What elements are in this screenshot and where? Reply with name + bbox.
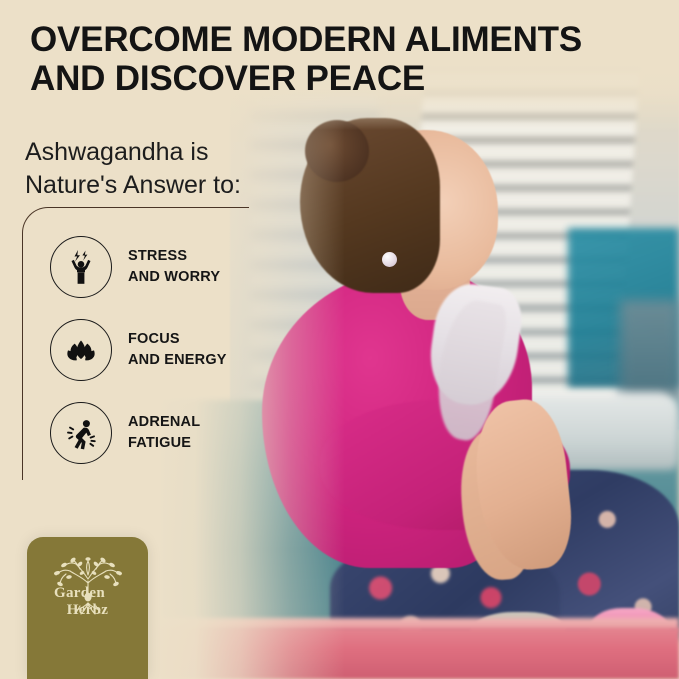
stressed-person-icon xyxy=(50,236,112,298)
logo-word-right: Herbz xyxy=(67,602,108,618)
content-layer: OVERCOME MODERN ALIMENTS AND DISCOVER PE… xyxy=(0,0,679,679)
list-item: ADRENAL FATIGUE xyxy=(50,402,290,464)
subheading: Ashwagandha is Nature's Answer to: xyxy=(25,136,275,201)
lotus-flower-icon xyxy=(50,319,112,381)
list-item-label: ADRENAL FATIGUE xyxy=(128,412,200,453)
logo-wordmark: GardenHerbz xyxy=(36,585,140,619)
list-item: FOCUS AND ENERGY xyxy=(50,319,290,381)
list-item-label: FOCUS AND ENERGY xyxy=(128,329,227,370)
logo-mark: GardenHerbz xyxy=(36,553,140,627)
promo-poster: OVERCOME MODERN ALIMENTS AND DISCOVER PE… xyxy=(0,0,679,679)
back-pain-person-icon xyxy=(50,402,112,464)
benefit-list: STRESS AND WORRY FOCUS AND ENERGY xyxy=(50,236,290,464)
list-item: STRESS AND WORRY xyxy=(50,236,290,298)
brand-logo-badge: GardenHerbz xyxy=(27,537,148,679)
page-title: OVERCOME MODERN ALIMENTS AND DISCOVER PE… xyxy=(30,20,630,98)
list-item-label: STRESS AND WORRY xyxy=(128,246,220,287)
logo-word-left: Garden xyxy=(54,585,105,601)
